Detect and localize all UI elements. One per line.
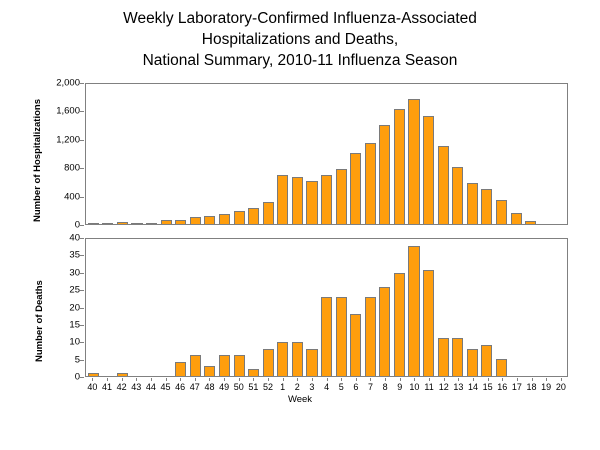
y-axis-tick-mark xyxy=(80,360,84,361)
bar-slot xyxy=(436,239,451,376)
bar xyxy=(525,221,536,224)
x-axis-tick: 10 xyxy=(407,378,422,394)
x-axis-tick-mark xyxy=(239,378,240,381)
x-axis-tick: 9 xyxy=(392,378,407,394)
x-axis-tick-mark xyxy=(370,378,371,381)
bar-slot xyxy=(101,239,116,376)
bar-slot xyxy=(407,84,422,224)
x-axis-tick-label: 16 xyxy=(495,382,510,392)
x-axis-tick-label: 6 xyxy=(349,382,364,392)
x-axis-tick: 50 xyxy=(231,378,246,394)
x-axis-tick: 6 xyxy=(349,378,364,394)
bar xyxy=(204,366,215,376)
bar-slot xyxy=(319,84,334,224)
bar-slot xyxy=(450,239,465,376)
bar xyxy=(88,373,99,376)
bar-slot xyxy=(276,84,291,224)
x-axis-tick-label: 9 xyxy=(392,382,407,392)
x-axis-tick-mark xyxy=(546,378,547,381)
y-axis-tick-mark xyxy=(80,83,84,84)
y-axis-tick-label: 15 xyxy=(69,319,80,330)
y-axis-tick-mark xyxy=(80,140,84,141)
x-axis-tick-label: 52 xyxy=(261,382,276,392)
bar-slot xyxy=(348,84,363,224)
x-axis-tick: 47 xyxy=(187,378,202,394)
x-axis-tick: 4 xyxy=(319,378,334,394)
x-axis-tick: 42 xyxy=(114,378,129,394)
y-axis-tick-mark xyxy=(80,273,84,274)
x-axis-tick-mark xyxy=(400,378,401,381)
plot-area-hospitalizations xyxy=(86,84,567,224)
y-axis-label-deaths: Number of Deaths xyxy=(34,280,45,362)
bar-slot xyxy=(378,239,393,376)
y-axis-tick-label: 20 xyxy=(69,302,80,313)
x-axis-tick: 45 xyxy=(158,378,173,394)
bar-slot xyxy=(115,84,130,224)
x-axis-tick: 16 xyxy=(495,378,510,394)
x-axis-tick-label: 10 xyxy=(407,382,422,392)
bar xyxy=(161,220,172,224)
bar xyxy=(496,359,507,376)
bar xyxy=(292,342,303,376)
x-axis-tick: 14 xyxy=(466,378,481,394)
x-axis-tick: 41 xyxy=(100,378,115,394)
bar xyxy=(248,208,259,224)
bar xyxy=(394,109,405,224)
bar-slot xyxy=(246,239,261,376)
x-axis-tick-label: 43 xyxy=(129,382,144,392)
bar-slot xyxy=(305,84,320,224)
bar xyxy=(321,175,332,224)
x-axis-tick-label: 14 xyxy=(466,382,481,392)
bar xyxy=(175,220,186,224)
x-axis-tick-mark xyxy=(297,378,298,381)
x-axis-tick-label: 42 xyxy=(114,382,129,392)
bar xyxy=(219,355,230,376)
x-axis-tick-label: 48 xyxy=(202,382,217,392)
y-axis-tick-mark xyxy=(80,225,84,226)
x-axis-tick-label: 40 xyxy=(85,382,100,392)
x-axis-tick-label: 13 xyxy=(451,382,466,392)
bar-slot xyxy=(494,84,509,224)
bar xyxy=(452,338,463,376)
x-axis-tick-label: 5 xyxy=(334,382,349,392)
bar xyxy=(467,349,478,376)
bar xyxy=(88,223,99,224)
x-axis-label: Week xyxy=(0,394,600,405)
x-axis-tick: 3 xyxy=(305,378,320,394)
bar xyxy=(146,223,157,224)
bar-slot xyxy=(159,239,174,376)
y-axis-tick-mark xyxy=(80,377,84,378)
bar xyxy=(292,177,303,224)
x-axis-tick-label: 46 xyxy=(173,382,188,392)
bar xyxy=(117,373,128,376)
x-axis-tick: 15 xyxy=(480,378,495,394)
bar xyxy=(102,223,113,224)
bar-slot xyxy=(363,239,378,376)
x-axis-tick: 12 xyxy=(436,378,451,394)
bar-slot xyxy=(465,84,480,224)
x-axis-tick-label: 8 xyxy=(378,382,393,392)
x-axis-tick-label: 50 xyxy=(231,382,246,392)
x-axis-tick-label: 49 xyxy=(217,382,232,392)
bar xyxy=(379,125,390,224)
bar xyxy=(277,175,288,224)
y-axis-label-hospitalizations: Number of Hospitalizations xyxy=(32,99,43,222)
x-axis-tick-mark xyxy=(283,378,284,381)
bar-slot xyxy=(232,84,247,224)
bar-slot xyxy=(261,84,276,224)
bar xyxy=(190,217,201,224)
y-axis-tick-label: 1,200 xyxy=(56,134,80,145)
bar-slot xyxy=(217,84,232,224)
bar-slot xyxy=(159,84,174,224)
x-axis-tick: 43 xyxy=(129,378,144,394)
bar xyxy=(306,181,317,224)
bar-slot xyxy=(144,239,159,376)
x-axis-tick-mark xyxy=(429,378,430,381)
bar xyxy=(408,99,419,224)
bar-slot xyxy=(86,84,101,224)
x-axis-tick-label: 18 xyxy=(524,382,539,392)
x-axis-tick-label: 19 xyxy=(539,382,554,392)
bar-slot xyxy=(363,84,378,224)
x-axis-tick-label: 11 xyxy=(422,382,437,392)
bar xyxy=(336,169,347,224)
y-axis-tick-mark xyxy=(80,325,84,326)
x-axis-tick-mark xyxy=(209,378,210,381)
bar xyxy=(263,202,274,224)
x-axis-tick: 19 xyxy=(539,378,554,394)
bar xyxy=(481,345,492,376)
x-axis-tick-mark xyxy=(136,378,137,381)
bar-slot xyxy=(203,84,218,224)
x-axis-tick-label: 20 xyxy=(554,382,569,392)
bar xyxy=(204,216,215,224)
x-axis-tick-mark xyxy=(180,378,181,381)
x-axis-tick-mark xyxy=(517,378,518,381)
x-axis-tick: 52 xyxy=(261,378,276,394)
x-axis-tick: 8 xyxy=(378,378,393,394)
bar-slot xyxy=(538,84,553,224)
x-axis-tick-label: 47 xyxy=(187,382,202,392)
plot-area-deaths xyxy=(86,239,567,376)
bar-slot xyxy=(436,84,451,224)
x-axis-tick: 2 xyxy=(290,378,305,394)
bar xyxy=(379,287,390,376)
x-axis-tick-mark xyxy=(253,378,254,381)
x-axis-tick-label: 2 xyxy=(290,382,305,392)
bar xyxy=(336,297,347,376)
bar xyxy=(117,222,128,224)
bar xyxy=(423,116,434,224)
bar-slot xyxy=(480,84,495,224)
bar xyxy=(423,270,434,376)
y-axis-tick-mark xyxy=(80,111,84,112)
bar-slot xyxy=(392,239,407,376)
x-axis-tick-mark xyxy=(561,378,562,381)
bar-slot xyxy=(173,84,188,224)
x-axis-tick: 13 xyxy=(451,378,466,394)
y-axis-tick-label: 800 xyxy=(64,163,80,174)
x-axis-tick-mark xyxy=(327,378,328,381)
y-axis-hospitalizations: 04008001,2001,6002,000 xyxy=(20,83,80,225)
x-axis-tick: 49 xyxy=(217,378,232,394)
y-axis-tick-mark xyxy=(80,197,84,198)
bar-slot xyxy=(334,84,349,224)
y-axis-tick-label: 2,000 xyxy=(56,78,80,89)
x-axis-tick: 18 xyxy=(524,378,539,394)
bar xyxy=(234,211,245,224)
x-axis-tick-mark xyxy=(195,378,196,381)
bar-slot xyxy=(523,84,538,224)
bar-slot xyxy=(407,239,422,376)
y-axis-tick-mark xyxy=(80,342,84,343)
bar xyxy=(350,314,361,376)
bar-slot xyxy=(276,239,291,376)
bar xyxy=(321,297,332,376)
bar-series-deaths xyxy=(86,239,567,376)
x-axis-tick-label: 51 xyxy=(246,382,261,392)
x-axis-tick: 11 xyxy=(422,378,437,394)
bar xyxy=(350,153,361,224)
bar-slot xyxy=(86,239,101,376)
x-axis-tick-mark xyxy=(268,378,269,381)
x-axis-tick-label: 4 xyxy=(319,382,334,392)
x-axis-tick-mark xyxy=(224,378,225,381)
x-axis-tick: 40 xyxy=(85,378,100,394)
x-axis-tick-mark xyxy=(356,378,357,381)
bar xyxy=(511,213,522,224)
bar-slot xyxy=(494,239,509,376)
bar-slot xyxy=(538,239,553,376)
chart-figure: Weekly Laboratory-Confirmed Influenza-As… xyxy=(0,0,600,450)
bar xyxy=(277,342,288,376)
y-axis-tick-mark xyxy=(80,308,84,309)
bar-slot xyxy=(480,239,495,376)
bar-slot xyxy=(290,239,305,376)
bar-slot xyxy=(378,84,393,224)
y-axis-deaths: 0510152025303540 xyxy=(20,238,80,377)
x-axis-tick-label: 17 xyxy=(510,382,525,392)
bar-slot xyxy=(523,239,538,376)
x-axis-tick: 46 xyxy=(173,378,188,394)
x-axis-tick: 44 xyxy=(144,378,159,394)
y-axis-tick-label: 10 xyxy=(69,337,80,348)
y-axis-tick-label: 40 xyxy=(69,233,80,244)
bar-slot xyxy=(465,239,480,376)
x-axis-tick-mark xyxy=(122,378,123,381)
x-axis-tick-label: 12 xyxy=(436,382,451,392)
bar-slot xyxy=(450,84,465,224)
x-axis-tick-mark xyxy=(341,378,342,381)
bar xyxy=(438,338,449,376)
y-axis-tick-mark xyxy=(80,168,84,169)
bar xyxy=(365,143,376,224)
x-axis-tick-mark xyxy=(458,378,459,381)
x-axis-tick-mark xyxy=(107,378,108,381)
bar-slot xyxy=(421,239,436,376)
bar xyxy=(394,273,405,376)
x-axis-tick-label: 3 xyxy=(305,382,320,392)
y-axis-tick-mark xyxy=(80,255,84,256)
bar-slot xyxy=(553,84,568,224)
bar xyxy=(467,183,478,224)
bar-series-hospitalizations xyxy=(86,84,567,224)
bar xyxy=(306,349,317,376)
bar-slot xyxy=(290,84,305,224)
bar xyxy=(452,167,463,224)
x-axis-tick-mark xyxy=(473,378,474,381)
chart-title: Weekly Laboratory-Confirmed Influenza-As… xyxy=(0,8,600,71)
bar-slot xyxy=(509,84,524,224)
bar-slot xyxy=(144,84,159,224)
bar-slot xyxy=(348,239,363,376)
bar-slot xyxy=(130,84,145,224)
bar-slot xyxy=(421,84,436,224)
x-axis-tick: 20 xyxy=(554,378,569,394)
x-axis-tick-label: 45 xyxy=(158,382,173,392)
bar-slot xyxy=(101,84,116,224)
bar-slot xyxy=(334,239,349,376)
x-axis-tick: 48 xyxy=(202,378,217,394)
bar-slot xyxy=(553,239,568,376)
bar-slot xyxy=(246,84,261,224)
x-axis-tick-mark xyxy=(151,378,152,381)
x-axis-tick-label: 44 xyxy=(144,382,159,392)
bar-slot xyxy=(509,239,524,376)
bar-slot xyxy=(305,239,320,376)
x-axis-tick-mark xyxy=(444,378,445,381)
bar xyxy=(131,223,142,224)
y-axis-tick-label: 25 xyxy=(69,285,80,296)
x-axis-tick-label: 7 xyxy=(363,382,378,392)
bar-slot xyxy=(130,239,145,376)
bar-slot xyxy=(173,239,188,376)
x-axis: 4041424344454647484950515212345678910111… xyxy=(85,378,568,394)
bar-slot xyxy=(392,84,407,224)
bar-slot xyxy=(217,239,232,376)
x-axis-tick-mark xyxy=(488,378,489,381)
x-axis-tick: 5 xyxy=(334,378,349,394)
x-axis-tick-mark xyxy=(385,378,386,381)
plot-panel-deaths xyxy=(85,238,568,377)
x-axis-tick-mark xyxy=(414,378,415,381)
bar-slot xyxy=(319,239,334,376)
plot-panel-hospitalizations xyxy=(85,83,568,225)
x-axis-tick-mark xyxy=(502,378,503,381)
bar xyxy=(175,362,186,376)
bar xyxy=(248,369,259,376)
bar xyxy=(219,214,230,224)
bar xyxy=(234,355,245,376)
y-axis-tick-mark xyxy=(80,290,84,291)
bar-slot xyxy=(188,239,203,376)
x-axis-tick-label: 41 xyxy=(100,382,115,392)
y-axis-tick-label: 400 xyxy=(64,191,80,202)
bar-slot xyxy=(188,84,203,224)
y-axis-tick-mark xyxy=(80,238,84,239)
x-axis-tick: 7 xyxy=(363,378,378,394)
x-axis-tick-mark xyxy=(532,378,533,381)
bar-slot xyxy=(261,239,276,376)
bar xyxy=(408,246,419,376)
y-axis-tick-label: 35 xyxy=(69,250,80,261)
x-axis-tick-label: 1 xyxy=(275,382,290,392)
bar xyxy=(438,146,449,224)
x-axis-tick-label: 15 xyxy=(480,382,495,392)
bar xyxy=(496,200,507,225)
bar xyxy=(481,189,492,224)
x-axis-tick: 17 xyxy=(510,378,525,394)
bar xyxy=(263,349,274,376)
bar-slot xyxy=(115,239,130,376)
bar-slot xyxy=(232,239,247,376)
bar-slot xyxy=(203,239,218,376)
bar xyxy=(365,297,376,376)
y-axis-tick-label: 30 xyxy=(69,267,80,278)
x-axis-tick-mark xyxy=(92,378,93,381)
x-axis-tick-mark xyxy=(166,378,167,381)
x-axis-tick: 1 xyxy=(275,378,290,394)
x-axis-tick-mark xyxy=(312,378,313,381)
y-axis-tick-label: 1,600 xyxy=(56,106,80,117)
bar xyxy=(190,355,201,376)
x-axis-tick: 51 xyxy=(246,378,261,394)
